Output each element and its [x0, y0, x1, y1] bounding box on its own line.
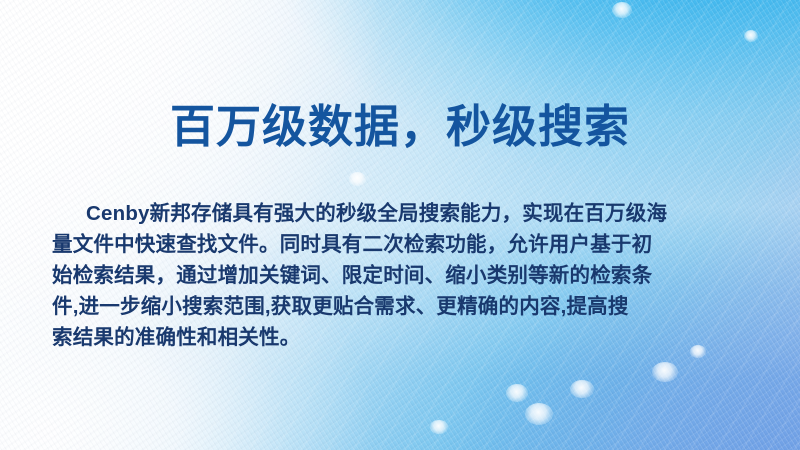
page-title: 百万级数据，秒级搜索 — [0, 98, 800, 156]
slide-content: 百万级数据，秒级搜索 Cenby新邦存储具有强大的秒级全局搜索能力，实现在百万级… — [0, 0, 800, 450]
body-text-line: Cenby新邦存储具有强大的秒级全局搜索能力，实现在百万级海 — [52, 198, 752, 229]
body-text-line: 始检索结果，通过增加关键词、限定时间、缩小类别等新的检索条 — [52, 260, 752, 291]
body-text-line: 件,进一步缩小搜索范围,获取更贴合需求、更精确的内容,提高搜 — [52, 291, 752, 322]
body-text-line: 索结果的准确性和相关性。 — [52, 322, 752, 353]
body-text-line: 量文件中快速查找文件。同时具有二次检索功能，允许用户基于初 — [52, 229, 752, 260]
presentation-slide: 百万级数据，秒级搜索 Cenby新邦存储具有强大的秒级全局搜索能力，实现在百万级… — [0, 0, 800, 450]
slide-body-text: Cenby新邦存储具有强大的秒级全局搜索能力，实现在百万级海 量文件中快速查找文… — [52, 198, 752, 353]
